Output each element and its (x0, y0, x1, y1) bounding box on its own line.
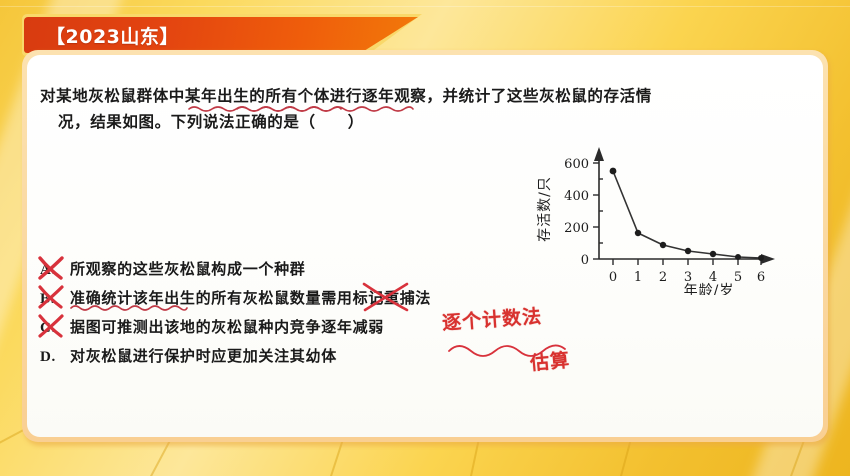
option-letter-b: B. (40, 285, 70, 314)
slide-stage: 【2023山东】 对某地灰松鼠群体中某年出生的所有个体进行逐年观察，并统计了这些… (0, 0, 850, 476)
option-text-c: 据图可推测出该地的灰松鼠种内竞争逐年减弱 (70, 313, 384, 342)
data-point-0 (610, 168, 617, 175)
y-tick-label-200: 200 (564, 221, 589, 236)
x-tick-label-1: 1 (634, 270, 642, 285)
chart-svg: 0 200 400 600 0 1 (527, 143, 789, 295)
survivorship-chart: 0 200 400 600 0 1 (527, 143, 789, 295)
question-line-1-text: 对某地灰松鼠群体中某年出生的所有个体进行逐年观察，并统计了这些灰松鼠的存活情 (40, 86, 652, 105)
y-tick-label-600: 600 (564, 157, 589, 172)
cross-out-mark-option-b-phrase (360, 280, 412, 314)
data-point-3 (685, 248, 691, 254)
background-line-top (0, 6, 850, 7)
question-line-1: 对某地灰松鼠群体中某年出生的所有个体进行逐年观察，并统计了这些灰松鼠的存活情 (40, 83, 812, 109)
data-point-4 (710, 251, 716, 257)
survivorship-line (613, 171, 761, 258)
x-tick-label-6: 6 (757, 270, 765, 285)
y-axis-label: 存活数/只 (537, 176, 553, 242)
y-tick-labels: 0 200 400 600 (564, 157, 589, 268)
option-letter-d: D. (40, 343, 70, 372)
y-axis-ticks (593, 163, 603, 259)
y-axis-arrow (594, 147, 604, 161)
question-line-2: 况，结果如图。下列说法正确的是（ ） (40, 109, 812, 135)
option-row-a[interactable]: A. 所观察的这些灰松鼠构成一个种群 (40, 255, 600, 284)
data-point-2 (660, 242, 666, 248)
option-letter-c: C. (40, 314, 70, 343)
option-text-d: 对灰松鼠进行保护时应更加关注其幼体 (70, 342, 337, 371)
x-axis-ticks (613, 259, 761, 265)
data-points (610, 168, 764, 261)
x-tick-label-0: 0 (609, 270, 617, 285)
y-tick-label-400: 400 (564, 189, 589, 204)
data-point-6 (758, 255, 764, 261)
annotation-squiggle (447, 337, 567, 361)
option-letter-a: A. (40, 256, 70, 285)
question-line-2-text: 况，结果如图。下列说法正确的是（ ） (58, 112, 364, 131)
data-point-1 (635, 230, 641, 236)
x-tick-label-2: 2 (659, 270, 667, 285)
data-point-5 (735, 254, 741, 260)
banner-fill: 【2023山东】 (24, 17, 418, 53)
question-stem: 对某地灰松鼠群体中某年出生的所有个体进行逐年观察，并统计了这些灰松鼠的存活情 况… (40, 83, 812, 135)
option-row-b[interactable]: B. 准确统计该年出生的所有灰松鼠数量需用标记重捕法 (40, 284, 600, 313)
x-tick-label-5: 5 (734, 270, 742, 285)
question-card: 对某地灰松鼠群体中某年出生的所有个体进行逐年观察，并统计了这些灰松鼠的存活情 况… (27, 55, 823, 437)
x-axis-label: 年龄/岁 (684, 283, 735, 295)
y-tick-label-0: 0 (581, 253, 589, 268)
exam-tag-label: 【2023山东】 (24, 22, 179, 49)
option-text-a: 所观察的这些灰松鼠构成一个种群 (70, 255, 306, 284)
